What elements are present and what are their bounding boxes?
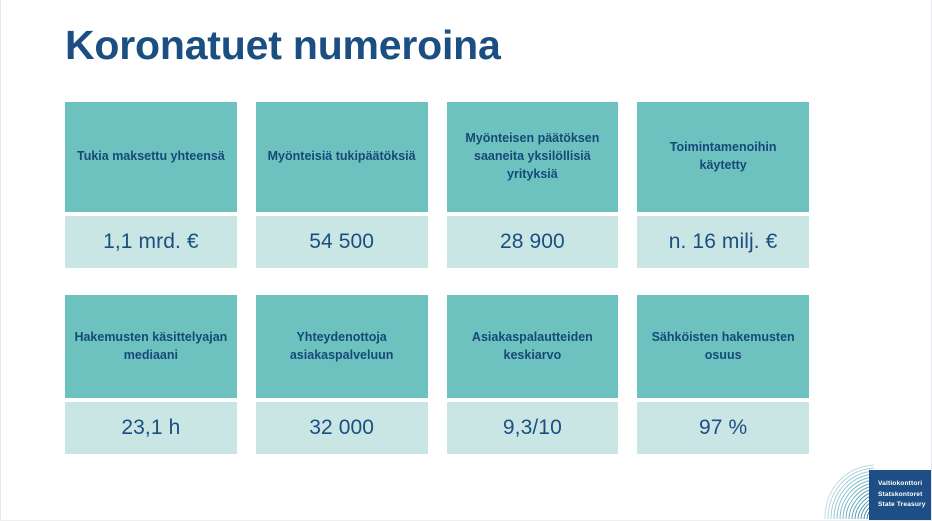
stat-card-value: 9,3/10 xyxy=(503,416,562,440)
stat-card-value: 97 % xyxy=(699,416,747,440)
stat-card-myonteisia-tukipaatoksia: Myönteisiä tukipäätöksiä 54 500 xyxy=(256,102,428,268)
stat-card-sahkoisten-hakemusten-osuus: Sähköisten hakemusten osuus 97 % xyxy=(637,295,809,454)
stat-card-label: Sähköisten hakemusten osuus xyxy=(646,329,800,365)
logo-line-en: State Treasury xyxy=(878,500,931,511)
stat-card-header: Hakemusten käsittelyajan mediaani xyxy=(65,295,237,398)
stat-card-value-block: 97 % xyxy=(637,402,809,454)
logo-line-fi: Valtiokonttori xyxy=(878,479,931,490)
stat-card-label: Tukia maksettu yhteensä xyxy=(77,148,225,166)
stat-card-label: Asiakaspalautteiden keskiarvo xyxy=(456,329,610,365)
stat-card-value-block: 28 900 xyxy=(447,216,619,268)
stat-card-kasittelyajan-mediaani: Hakemusten käsittelyajan mediaani 23,1 h xyxy=(65,295,237,454)
stat-card-value: 23,1 h xyxy=(121,416,180,440)
stat-card-value-block: 54 500 xyxy=(256,216,428,268)
stat-card-value-block: 1,1 mrd. € xyxy=(65,216,237,268)
stats-card-row-1: Tukia maksettu yhteensä 1,1 mrd. € Myönt… xyxy=(65,102,809,268)
page-title: Koronatuet numeroina xyxy=(65,22,501,69)
logo-name-plate: Valtiokonttori Statskontoret State Treas… xyxy=(869,470,931,520)
stat-card-yhteydenottoja: Yhteydenottoja asiakaspalveluun 32 000 xyxy=(256,295,428,454)
stat-card-value: 32 000 xyxy=(309,416,374,440)
stat-card-label: Hakemusten käsittelyajan mediaani xyxy=(74,329,228,365)
stat-card-toimintamenoihin-kaytetty: Toimintamenoihin käytetty n. 16 milj. € xyxy=(637,102,809,268)
stat-card-value: 28 900 xyxy=(500,230,565,254)
stat-card-value: 1,1 mrd. € xyxy=(103,230,199,254)
organization-logo: Valtiokonttori Statskontoret State Treas… xyxy=(824,464,931,520)
stat-card-value-block: n. 16 milj. € xyxy=(637,216,809,268)
stat-card-tukia-maksettu: Tukia maksettu yhteensä 1,1 mrd. € xyxy=(65,102,237,268)
stat-card-header: Asiakaspalautteiden keskiarvo xyxy=(447,295,619,398)
stat-card-header: Toimintamenoihin käytetty xyxy=(637,102,809,212)
logo-line-sv: Statskontoret xyxy=(878,490,931,501)
stat-card-value: n. 16 milj. € xyxy=(669,230,778,254)
stat-card-value: 54 500 xyxy=(309,230,374,254)
stat-card-label: Toimintamenoihin käytetty xyxy=(646,139,800,175)
stat-card-header: Myönteisiä tukipäätöksiä xyxy=(256,102,428,212)
stat-card-value-block: 23,1 h xyxy=(65,402,237,454)
stat-card-label: Yhteydenottoja asiakaspalveluun xyxy=(265,329,419,365)
stat-card-value-block: 32 000 xyxy=(256,402,428,454)
stats-card-row-2: Hakemusten käsittelyajan mediaani 23,1 h… xyxy=(65,295,809,454)
stat-card-label: Myönteisen päätöksen saaneita yksilöllis… xyxy=(456,130,610,183)
stat-card-asiakaspalautteiden-keskiarvo: Asiakaspalautteiden keskiarvo 9,3/10 xyxy=(447,295,619,454)
stat-card-header: Tukia maksettu yhteensä xyxy=(65,102,237,212)
stats-card-grid: Tukia maksettu yhteensä 1,1 mrd. € Myönt… xyxy=(65,102,809,454)
stat-card-header: Myönteisen päätöksen saaneita yksilöllis… xyxy=(447,102,619,212)
stat-card-header: Sähköisten hakemusten osuus xyxy=(637,295,809,398)
stat-card-value-block: 9,3/10 xyxy=(447,402,619,454)
stat-card-header: Yhteydenottoja asiakaspalveluun xyxy=(256,295,428,398)
slide-canvas: Koronatuet numeroina Tukia maksettu yhte… xyxy=(0,0,932,521)
stat-card-label: Myönteisiä tukipäätöksiä xyxy=(268,148,416,166)
stat-card-yksilollisia-yrityksia: Myönteisen päätöksen saaneita yksilöllis… xyxy=(447,102,619,268)
